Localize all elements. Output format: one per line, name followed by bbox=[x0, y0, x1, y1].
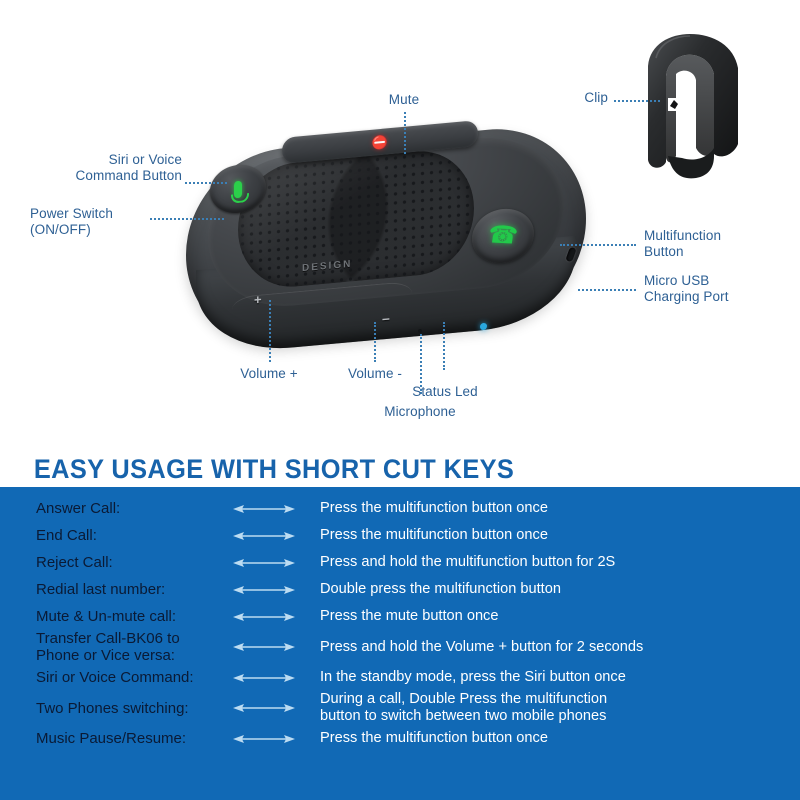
callout-siri-voice-command-button: Siri or Voice Command Button bbox=[18, 152, 182, 184]
double-arrow-cell bbox=[218, 584, 310, 596]
double-arrow-icon bbox=[233, 641, 295, 653]
shortcut-row: Music Pause/Resume:Press the multifuncti… bbox=[0, 725, 800, 752]
leader-usb bbox=[578, 289, 636, 291]
clip-body bbox=[648, 34, 738, 168]
leader-clip bbox=[614, 100, 660, 102]
shortcut-label: Answer Call: bbox=[0, 500, 218, 517]
microphone-icon bbox=[234, 180, 242, 198]
shortcut-keys-panel: Answer Call:Press the multifunction butt… bbox=[0, 487, 800, 800]
shortcut-description: During a call, Double Press the multifun… bbox=[310, 691, 800, 725]
shortcut-label: End Call: bbox=[0, 527, 218, 544]
shortcut-label: Transfer Call-BK06 to Phone or Vice vers… bbox=[0, 630, 218, 664]
double-arrow-icon bbox=[233, 530, 295, 542]
shortcut-label: Redial last number: bbox=[0, 581, 218, 598]
callout-volume-up: Volume + bbox=[219, 366, 319, 382]
callout-clip: Clip bbox=[520, 90, 608, 106]
shortcut-row: Reject Call:Press and hold the multifunc… bbox=[0, 549, 800, 576]
double-arrow-icon bbox=[233, 611, 295, 623]
leader-mute bbox=[404, 112, 406, 154]
shortcut-description: Press and hold the Volume + button for 2… bbox=[310, 639, 800, 656]
shortcut-row: Two Phones switching:During a call, Doub… bbox=[0, 691, 800, 725]
bluetooth-car-kit-device: DESIGN ⛔ ☎ + – bbox=[186, 133, 586, 345]
shortcut-row: End Call:Press the multifunction button … bbox=[0, 522, 800, 549]
shortcut-description: Double press the multifunction button bbox=[310, 581, 800, 598]
callout-status-led: Status Led bbox=[400, 384, 490, 400]
shortcut-row: Mute & Un-mute call:Press the mute butto… bbox=[0, 603, 800, 630]
shortcut-description: Press the mute button once bbox=[310, 608, 800, 625]
double-arrow-icon bbox=[233, 503, 295, 515]
leader-volume-down bbox=[374, 322, 376, 362]
callout-volume-down: Volume - bbox=[330, 366, 420, 382]
device-diagram: DESIGN ⛔ ☎ + – bbox=[0, 0, 800, 432]
shortcut-label: Siri or Voice Command: bbox=[0, 669, 218, 686]
double-arrow-cell bbox=[218, 530, 310, 542]
leader-volume-up bbox=[269, 300, 271, 362]
shortcut-label: Music Pause/Resume: bbox=[0, 730, 218, 747]
double-arrow-cell bbox=[218, 641, 310, 653]
shortcut-description: Press the multifunction button once bbox=[310, 730, 800, 747]
double-arrow-cell bbox=[218, 672, 310, 684]
volume-down-key[interactable]: – bbox=[382, 311, 390, 326]
phone-handset-icon: ☎ bbox=[487, 223, 520, 249]
shortcut-rows: Answer Call:Press the multifunction butt… bbox=[0, 487, 800, 752]
double-arrow-icon bbox=[233, 557, 295, 569]
double-arrow-cell bbox=[218, 611, 310, 623]
double-arrow-icon bbox=[233, 672, 295, 684]
clip-illustration bbox=[638, 28, 756, 188]
double-arrow-cell bbox=[218, 733, 310, 745]
section-heading: EASY USAGE WITH SHORT CUT KEYS bbox=[0, 450, 800, 488]
shortcut-label: Two Phones switching: bbox=[0, 700, 218, 717]
mute-icon: ⛔ bbox=[372, 135, 388, 149]
shortcut-description: In the standby mode, press the Siri butt… bbox=[310, 669, 800, 686]
shortcut-row: Redial last number:Double press the mult… bbox=[0, 576, 800, 603]
leader-multifunction bbox=[560, 244, 636, 246]
shortcut-label: Mute & Un-mute call: bbox=[0, 608, 218, 625]
callout-multifunction-button: Multifunction Button bbox=[644, 228, 774, 260]
double-arrow-cell bbox=[218, 503, 310, 515]
shortcut-description: Press the multifunction button once bbox=[310, 527, 800, 544]
double-arrow-icon bbox=[233, 584, 295, 596]
shortcut-description: Press the multifunction button once bbox=[310, 500, 800, 517]
shortcut-row: Answer Call:Press the multifunction butt… bbox=[0, 495, 800, 522]
callout-microphone: Microphone bbox=[372, 404, 468, 420]
callout-power-switch: Power Switch (ON/OFF) bbox=[30, 206, 160, 238]
shortcut-row: Siri or Voice Command:In the standby mod… bbox=[0, 664, 800, 691]
page-title: EASY USAGE WITH SHORT CUT KEYS bbox=[0, 454, 514, 485]
leader-power bbox=[150, 218, 224, 220]
double-arrow-cell bbox=[218, 557, 310, 569]
double-arrow-icon bbox=[233, 702, 295, 714]
leader-siri bbox=[185, 182, 227, 184]
double-arrow-cell bbox=[218, 702, 310, 714]
visor-clip-accessory bbox=[638, 28, 756, 188]
callout-mute: Mute bbox=[364, 92, 444, 108]
shortcut-row: Transfer Call-BK06 to Phone or Vice vers… bbox=[0, 630, 800, 664]
shortcut-description: Press and hold the multifunction button … bbox=[310, 554, 800, 571]
shortcut-label: Reject Call: bbox=[0, 554, 218, 571]
leader-status-led bbox=[443, 322, 445, 370]
double-arrow-icon bbox=[233, 733, 295, 745]
volume-up-key[interactable]: + bbox=[254, 293, 262, 307]
callout-micro-usb-charging-port: Micro USB Charging Port bbox=[644, 273, 784, 305]
product-feature-infographic: DESIGN ⛔ ☎ + – bbox=[0, 0, 800, 800]
